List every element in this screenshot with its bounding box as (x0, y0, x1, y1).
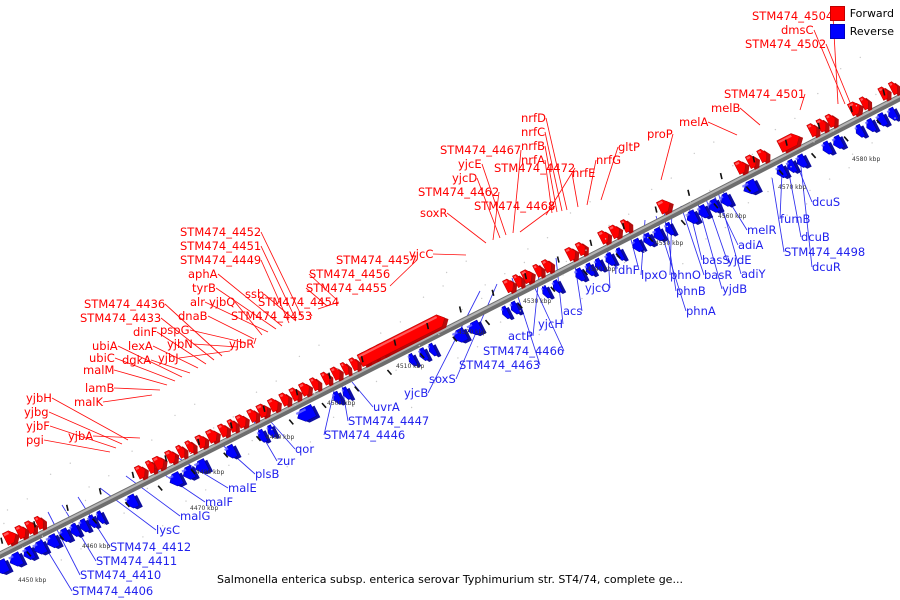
gene-label-forward[interactable]: STM474_4501 (724, 88, 805, 100)
gene-label-forward[interactable]: dgkA (122, 354, 151, 366)
gene-label-forward[interactable]: STM474_4451 (180, 240, 261, 252)
gene-label-reverse[interactable]: STM474_4498 (784, 246, 865, 258)
gene-label-forward[interactable]: pspG (160, 324, 190, 336)
gene-label-forward[interactable]: gltP (618, 141, 640, 153)
gene-label-forward[interactable]: STM474_4504 (752, 10, 833, 22)
gene-label-forward[interactable]: STM474_4433 (80, 312, 161, 324)
gene-label-reverse[interactable]: phnO (670, 269, 701, 281)
gene-label-reverse[interactable]: dcuR (812, 261, 841, 273)
gene-label-reverse[interactable]: yjcB (404, 387, 428, 399)
gene-label-reverse[interactable]: fdhF (614, 264, 639, 276)
gene-label-reverse[interactable]: acs (563, 305, 582, 317)
gene-label-forward[interactable]: yjbF (26, 420, 50, 432)
gene-label-reverse[interactable]: malG (180, 510, 210, 522)
gene-label-forward[interactable]: yjcE (458, 158, 482, 170)
gene-label-forward[interactable]: aphA (188, 268, 218, 280)
gene-label-reverse[interactable]: actP (508, 330, 533, 342)
gene-label-forward[interactable]: lamB (85, 382, 114, 394)
legend: Forward Reverse (830, 6, 894, 39)
gene-label-reverse[interactable]: STM474_4466 (483, 345, 564, 357)
gene-label-forward[interactable]: STM474_4454 (258, 296, 339, 308)
gene-label-forward[interactable]: yjbQ (209, 296, 235, 308)
gene-label-forward[interactable]: STM474_4502 (745, 38, 826, 50)
gene-label-reverse[interactable]: yjcO (585, 282, 610, 294)
forward-swatch-icon (830, 6, 845, 21)
gene-label-reverse[interactable]: qor (295, 443, 314, 455)
axis-tick-label: 4520 kbp (458, 329, 486, 336)
gene-label-reverse[interactable]: STM474_4406 (72, 585, 153, 597)
genome-map-canvas[interactable]: 4450 kbp4460 kbp4470 kbp4480 kbp4490 kbp… (0, 0, 900, 600)
legend-item-reverse[interactable]: Reverse (830, 24, 894, 39)
gene-label-forward[interactable]: yjbJ (158, 352, 179, 364)
gene-label-forward[interactable]: STM474_4457 (336, 254, 417, 266)
gene-label-reverse[interactable]: dcuS (812, 196, 840, 208)
gene-label-reverse[interactable]: lpxO (641, 269, 667, 281)
gene-label-forward[interactable]: tyrB (192, 282, 216, 294)
gene-label-forward[interactable]: STM474_4467 (440, 144, 521, 156)
axis-tick-label: 4500 kbp (327, 400, 355, 407)
axis-tick-label: 4580 kbp (852, 156, 880, 163)
gene-label-forward[interactable]: nrfE (572, 167, 595, 179)
gene-label-reverse[interactable]: phnB (676, 285, 706, 297)
gene-label-forward[interactable]: nrfB (521, 140, 545, 152)
gene-label-forward[interactable]: STM474_4468 (474, 200, 555, 212)
gene-label-forward[interactable]: STM474_4472 (494, 162, 575, 174)
gene-label-forward[interactable]: yjcD (452, 172, 477, 184)
gene-label-reverse[interactable]: STM474_4411 (96, 555, 177, 567)
gene-label-reverse[interactable]: soxS (429, 373, 456, 385)
gene-label-reverse[interactable]: yjdE (727, 254, 752, 266)
gene-label-forward[interactable]: malK (74, 396, 103, 408)
gene-label-reverse[interactable]: adiA (738, 239, 763, 251)
gene-label-reverse[interactable]: malF (205, 496, 233, 508)
gene-label-reverse[interactable]: STM474_4412 (110, 541, 191, 553)
gene-label-reverse[interactable]: melR (747, 224, 776, 236)
gene-label-reverse[interactable]: zur (277, 455, 295, 467)
gene-label-forward[interactable]: STM474_4456 (309, 268, 390, 280)
gene-label-forward[interactable]: yjbR (229, 338, 254, 350)
gene-label-forward[interactable]: nrfG (596, 154, 621, 166)
gene-label-forward[interactable]: lexA (128, 340, 153, 352)
gene-label-forward[interactable]: melA (679, 116, 708, 128)
gene-label-reverse[interactable]: STM474_4447 (348, 415, 429, 427)
gene-label-reverse[interactable]: yjcH (538, 318, 563, 330)
axis-tick-label: 4540 kbp (587, 266, 615, 273)
gene-label-reverse[interactable]: STM474_4446 (324, 429, 405, 441)
gene-label-reverse[interactable]: uvrA (373, 401, 400, 413)
gene-label-forward[interactable]: soxR (420, 207, 447, 219)
gene-label-forward[interactable]: dmsC (781, 24, 814, 36)
gene-label-reverse[interactable]: yjdB (722, 283, 747, 295)
gene-label-forward[interactable]: nrfC (521, 126, 545, 138)
gene-label-reverse[interactable]: adiY (741, 268, 766, 280)
axis-tick-label: 4530 kbp (523, 298, 551, 305)
gene-label-reverse[interactable]: dcuB (801, 231, 830, 243)
gene-label-reverse[interactable]: plsB (255, 468, 279, 480)
gene-label-forward[interactable]: STM474_4453 (231, 310, 312, 322)
sequence-caption: Salmonella enterica subsp. enterica sero… (0, 573, 900, 586)
gene-label-forward[interactable]: STM474_4436 (84, 298, 165, 310)
gene-label-forward[interactable]: ssb (245, 288, 264, 300)
gene-label-reverse[interactable]: fumB (780, 213, 810, 225)
gene-label-reverse[interactable]: phnA (686, 305, 716, 317)
axis-tick-label: 4570 kbp (778, 184, 806, 191)
axis-tick-label: 4510 kbp (396, 363, 424, 370)
gene-label-forward[interactable]: yjbA (68, 430, 93, 442)
gene-label-forward[interactable]: dinF (133, 326, 157, 338)
axis-tick-label: 4480 kbp (196, 469, 224, 476)
legend-item-forward[interactable]: Forward (830, 6, 894, 21)
gene-label-forward[interactable]: STM474_4449 (180, 254, 261, 266)
gene-label-forward[interactable]: proP (647, 128, 673, 140)
gene-label-forward[interactable]: melB (711, 102, 740, 114)
gene-label-forward[interactable]: pgi (26, 434, 44, 446)
reverse-swatch-icon (830, 24, 845, 39)
legend-label-reverse: Reverse (850, 25, 894, 38)
gene-label-reverse[interactable]: basS (702, 254, 730, 266)
gene-label-forward[interactable]: STM474_4462 (418, 186, 499, 198)
legend-label-forward: Forward (850, 7, 894, 20)
gene-label-forward[interactable]: yjbH (26, 392, 52, 404)
gene-label-forward[interactable]: malM (83, 364, 114, 376)
gene-label-reverse[interactable]: lysC (156, 524, 180, 536)
gene-label-forward[interactable]: alr (190, 296, 205, 308)
gene-label-reverse[interactable]: malE (228, 482, 257, 494)
gene-label-forward[interactable]: yjbg (24, 406, 49, 418)
axis-tick-label: 4490 kbp (266, 434, 294, 441)
gene-label-forward[interactable]: STM474_4455 (306, 282, 387, 294)
gene-label-reverse[interactable]: STM474_4463 (459, 359, 540, 371)
gene-label-forward[interactable]: dnaB (178, 310, 208, 322)
gene-label-forward[interactable]: yjbN (167, 338, 193, 350)
axis-tick-label: 4560 kbp (718, 213, 746, 220)
axis-tick-label: 4550 kbp (655, 240, 683, 247)
gene-label-reverse[interactable]: basR (704, 269, 732, 281)
gene-label-forward[interactable]: nrfD (521, 112, 546, 124)
axis-tick-label: 4460 kbp (82, 543, 110, 550)
gene-label-forward[interactable]: STM474_4452 (180, 226, 261, 238)
